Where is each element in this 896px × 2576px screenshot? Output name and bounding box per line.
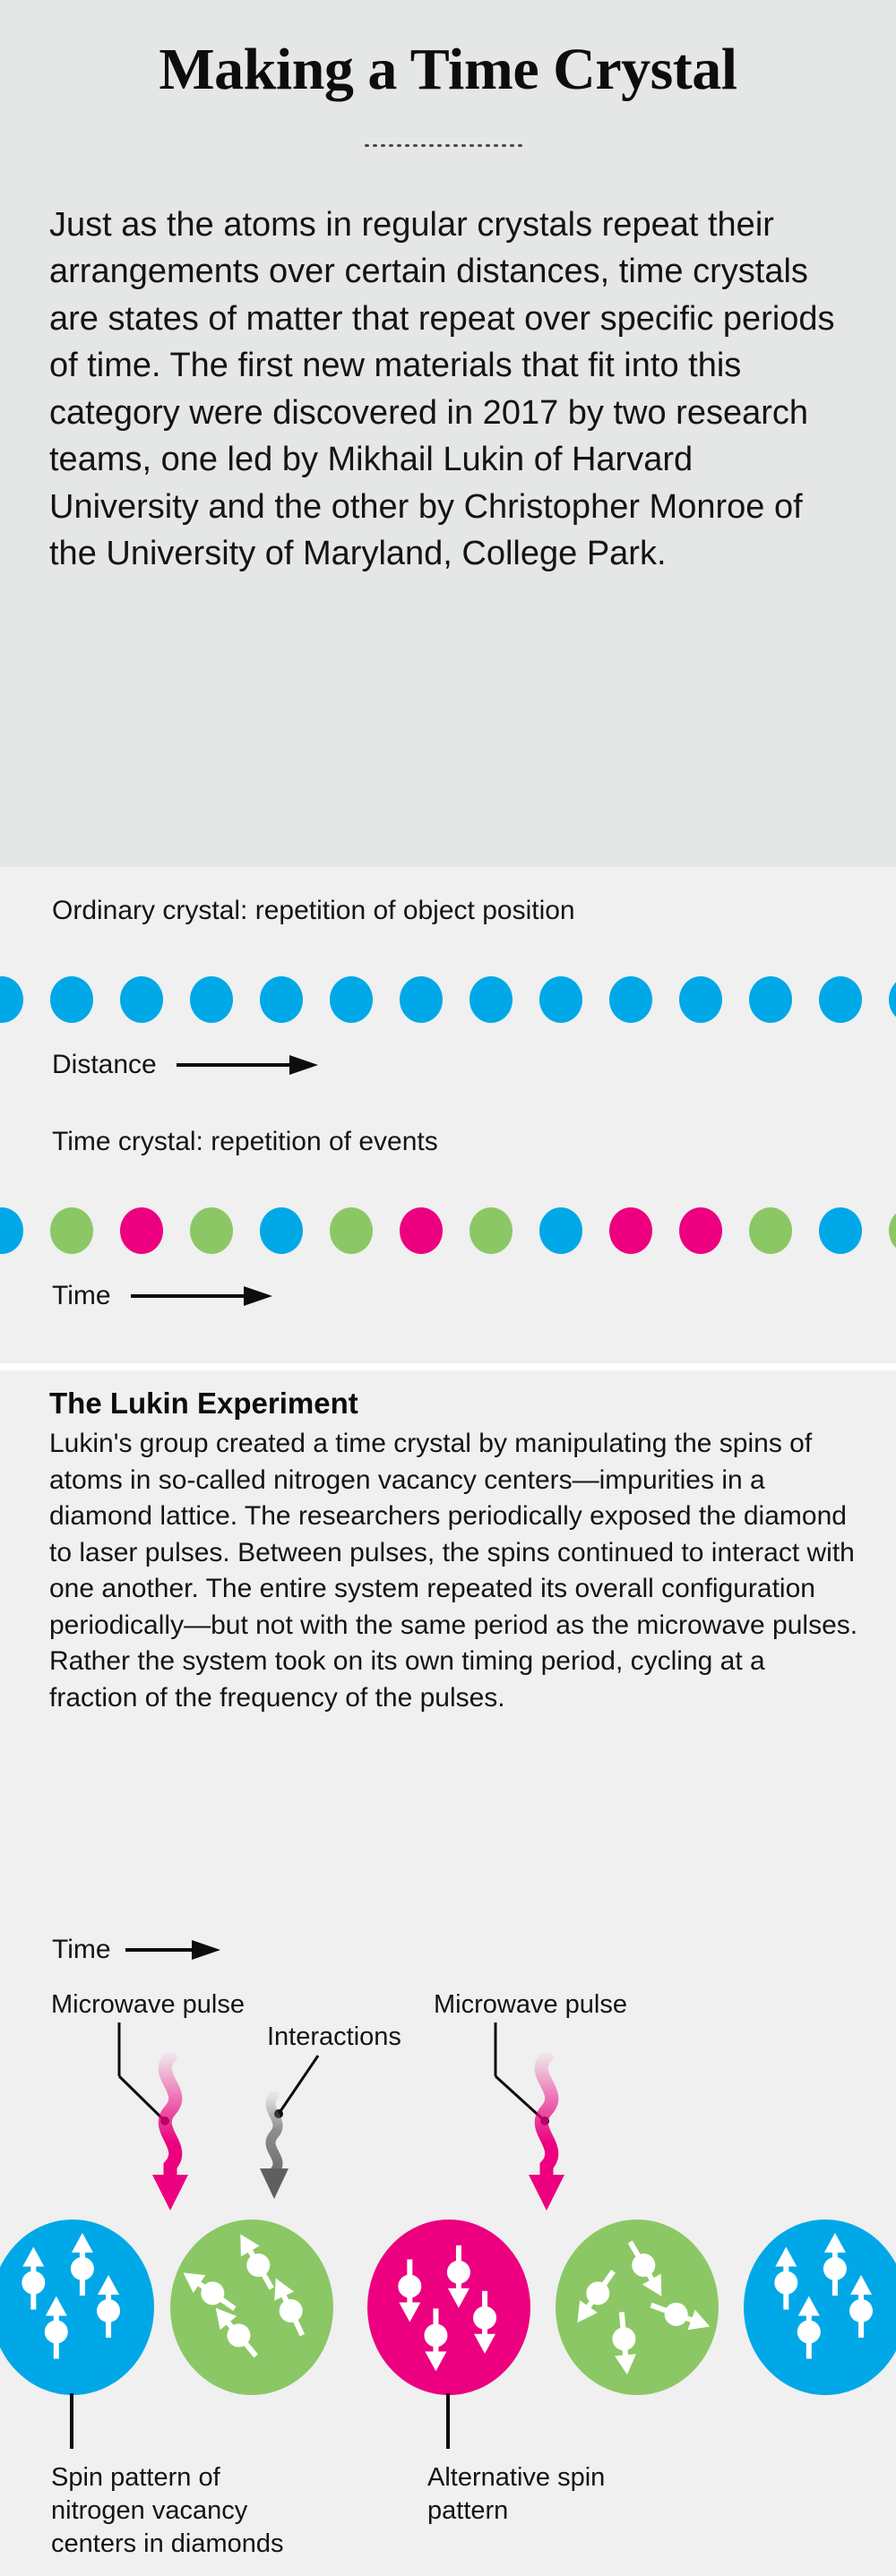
spin-arrows — [744, 2220, 896, 2395]
crystal-dot-blue — [609, 976, 652, 1023]
crystal-dot-blue — [0, 976, 23, 1023]
crystal-dot-blue — [539, 976, 582, 1023]
crystal-dot-green — [889, 1207, 896, 1254]
caption-alternative-spin-pattern: Alternative spin pattern — [427, 2461, 651, 2528]
crystal-dot-green — [470, 1207, 513, 1254]
crystal-dot-pink — [400, 1207, 443, 1254]
crystal-dot-blue — [819, 1207, 862, 1254]
crystal-dot-green — [749, 1207, 792, 1254]
diagram-time-label: Time — [52, 1935, 111, 1965]
diagram-time-axis: Time — [52, 1935, 224, 1965]
microwave-pulse-arrow-icon — [143, 2053, 206, 2223]
caption-spin-pattern: Spin pattern of nitrogen vacancy centers… — [51, 2461, 293, 2561]
crystal-dot-pink — [609, 1207, 652, 1254]
caption-stem — [70, 2393, 73, 2449]
time-crystal-label: Time crystal: repetition of events — [52, 1127, 438, 1157]
caption-stem — [446, 2393, 450, 2449]
crystal-dot-blue — [819, 976, 862, 1023]
time-axis: Time — [52, 1281, 274, 1311]
time-crystal-dot-row — [0, 1207, 896, 1254]
crystal-dot-green — [190, 1207, 233, 1254]
intro-paragraph: Just as the atoms in regular crystals re… — [49, 202, 847, 578]
lukin-paragraph: Lukin's group created a time crystal by … — [49, 1426, 860, 1716]
callout-leader-lines — [0, 2006, 896, 2185]
crystal-dot-green — [50, 1207, 93, 1254]
spin-state-circle-blue — [0, 2220, 154, 2395]
crystal-dot-blue — [260, 976, 303, 1023]
page-title: Making a Time Crystal — [0, 36, 896, 104]
time-axis-label: Time — [52, 1281, 111, 1311]
crystal-dot-blue — [749, 976, 792, 1023]
interactions-arrow-icon — [249, 2091, 305, 2208]
distance-axis-label: Distance — [52, 1050, 157, 1080]
ordinary-crystal-label: Ordinary crystal: repetition of object p… — [52, 896, 575, 926]
microwave-pulse-arrow-icon — [520, 2053, 582, 2223]
distance-axis: Distance — [52, 1050, 320, 1080]
crystal-dot-blue — [190, 976, 233, 1023]
right-arrow-icon — [177, 1059, 320, 1071]
crystal-dot-blue — [470, 976, 513, 1023]
ordinary-crystal-dot-row — [0, 976, 896, 1023]
crystal-dot-blue — [120, 976, 163, 1023]
lukin-heading: The Lukin Experiment — [49, 1387, 856, 1421]
spin-arrows — [170, 2220, 333, 2395]
section-divider — [0, 1363, 896, 1370]
spin-state-circle-green — [556, 2220, 719, 2395]
spin-state-circle-blue — [744, 2220, 896, 2395]
spin-arrows — [556, 2220, 719, 2395]
crystal-dot-blue — [0, 1207, 23, 1254]
crystal-dot-blue — [889, 976, 896, 1023]
dotted-rule-divider — [363, 143, 526, 148]
right-arrow-icon — [125, 1944, 224, 1956]
spin-arrows — [0, 2220, 154, 2395]
spin-state-circle-green — [170, 2220, 333, 2395]
crystal-dot-blue — [50, 976, 93, 1023]
crystal-dot-blue — [330, 976, 373, 1023]
crystal-dot-pink — [120, 1207, 163, 1254]
crystal-dot-blue — [539, 1207, 582, 1254]
spin-state-circle-pink — [367, 2220, 530, 2395]
crystal-dot-blue — [400, 976, 443, 1023]
crystal-dot-green — [330, 1207, 373, 1254]
right-arrow-icon — [131, 1290, 274, 1302]
spin-arrows — [367, 2220, 530, 2395]
crystal-dot-blue — [260, 1207, 303, 1254]
crystal-dot-blue — [679, 976, 722, 1023]
crystal-dot-pink — [679, 1207, 722, 1254]
